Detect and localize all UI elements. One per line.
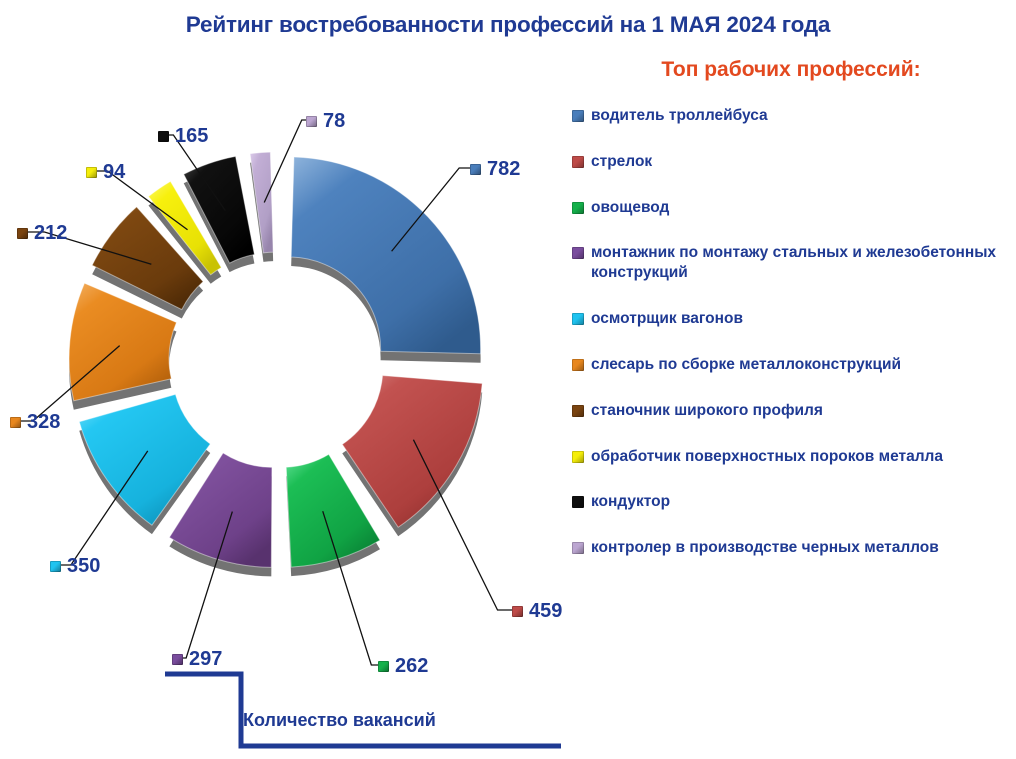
legend-item-label: монтажник по монтажу стальных и железобе…	[591, 243, 1011, 283]
legend-item[interactable]: водитель троллейбуса	[572, 106, 1016, 126]
legend-item[interactable]: контролер в производстве черных металлов	[572, 538, 1016, 558]
data-label: 78	[306, 110, 345, 133]
data-label: 782	[470, 158, 520, 181]
data-label: 165	[158, 125, 208, 148]
data-label: 459	[512, 600, 562, 623]
doughnut-chart-svg	[0, 60, 572, 700]
legend-item-label: обработчик поверхностных пороков металла	[591, 447, 943, 467]
data-label-value: 94	[103, 161, 125, 184]
data-label: 328	[10, 411, 60, 434]
pie-slice[interactable]	[250, 152, 273, 253]
data-label-swatch-icon	[10, 417, 21, 428]
data-label-value: 350	[67, 555, 100, 578]
legend-item-label: овощевод	[591, 198, 669, 218]
legend-item-label: слесарь по сборке металлоконструкций	[591, 355, 901, 375]
legend-swatch-icon	[572, 496, 584, 508]
data-label-swatch-icon	[306, 116, 317, 127]
data-label-swatch-icon	[158, 131, 169, 142]
legend-swatch-icon	[572, 202, 584, 214]
legend-item-label: осмотрщик вагонов	[591, 309, 743, 329]
legend-item-label: стрелок	[591, 152, 652, 172]
value-axis-caption: Количество вакансий	[163, 668, 563, 754]
legend-item-label: контролер в производстве черных металлов	[591, 538, 939, 558]
legend: Топ рабочих профессий: водитель троллейб…	[572, 58, 1016, 584]
data-label-value: 78	[323, 110, 345, 133]
data-label-value: 165	[175, 125, 208, 148]
data-label-swatch-icon	[50, 561, 61, 572]
legend-swatch-icon	[572, 359, 584, 371]
legend-swatch-icon	[572, 110, 584, 122]
legend-swatch-icon	[572, 313, 584, 325]
legend-item[interactable]: обработчик поверхностных пороков металла	[572, 447, 1016, 467]
chart-page: Рейтинг востребованности профессий на 1 …	[0, 0, 1016, 756]
doughnut-chart: 7824592622973503282129416578	[0, 60, 572, 700]
legend-swatch-icon	[572, 156, 584, 168]
page-title: Рейтинг востребованности профессий на 1 …	[0, 12, 1016, 38]
legend-item[interactable]: осмотрщик вагонов	[572, 309, 1016, 329]
data-label: 350	[50, 555, 100, 578]
pie-slice[interactable]	[342, 375, 482, 527]
data-label: 212	[17, 222, 67, 245]
data-label-swatch-icon	[470, 164, 481, 175]
data-label-swatch-icon	[172, 654, 183, 665]
data-label-swatch-icon	[512, 606, 523, 617]
legend-swatch-icon	[572, 451, 584, 463]
legend-item-label: станочник широкого профиля	[591, 401, 823, 421]
legend-item[interactable]: слесарь по сборке металлоконструкций	[572, 355, 1016, 375]
legend-item[interactable]: монтажник по монтажу стальных и железобе…	[572, 243, 1016, 283]
legend-item[interactable]: стрелок	[572, 152, 1016, 172]
pie-slice[interactable]	[291, 157, 480, 354]
legend-item[interactable]: кондуктор	[572, 492, 1016, 512]
legend-item[interactable]: станочник широкого профиля	[572, 401, 1016, 421]
data-label-value: 459	[529, 600, 562, 623]
data-label-swatch-icon	[17, 228, 28, 239]
legend-swatch-icon	[572, 542, 584, 554]
legend-swatch-icon	[572, 247, 584, 259]
data-label-value: 328	[27, 411, 60, 434]
axis-caption-label: Количество вакансий	[243, 710, 436, 731]
legend-item[interactable]: овощевод	[572, 198, 1016, 218]
legend-swatch-icon	[572, 405, 584, 417]
legend-item-label: водитель троллейбуса	[591, 106, 768, 126]
data-label-value: 782	[487, 158, 520, 181]
data-label-swatch-icon	[86, 167, 97, 178]
legend-item-label: кондуктор	[591, 492, 670, 512]
legend-list: водитель троллейбусастрелоковощеводмонта…	[572, 106, 1016, 558]
legend-title: Топ рабочих профессий:	[572, 58, 1016, 82]
data-label: 94	[86, 161, 125, 184]
data-label-value: 212	[34, 222, 67, 245]
